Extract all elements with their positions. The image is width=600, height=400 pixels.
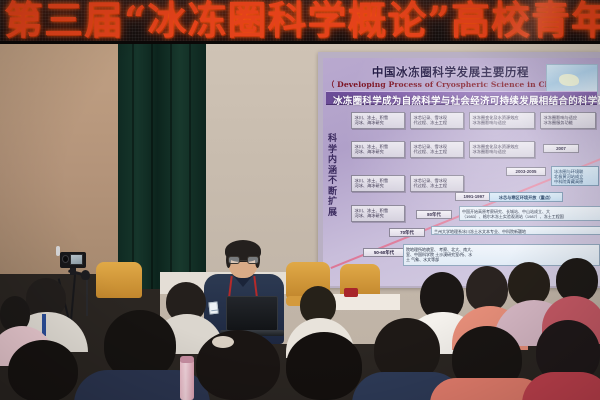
microphone-icon xyxy=(81,270,90,280)
mic-stand xyxy=(86,278,88,316)
banner-glare xyxy=(430,0,600,44)
slide-cell: 冰冻圈变化及水资源效应 冰冻圈影响与适应 xyxy=(469,112,535,129)
slide-side-note: 冰芯与寒区环境开放（重点） xyxy=(489,192,563,202)
slide-subtitle: （ Developing Process of Cryospheric Scie… xyxy=(323,79,578,90)
banner-bottom-edge xyxy=(0,41,600,44)
slide-year-chip: 50-60年代 xyxy=(363,248,405,257)
slide-year-chip: 70年代 xyxy=(389,228,425,237)
slide-year-chip: 2007 xyxy=(543,144,579,153)
camera-lens-icon xyxy=(62,255,69,263)
tripod-head xyxy=(70,268,76,275)
chair-back xyxy=(96,262,142,298)
camera-microphone-icon xyxy=(56,246,60,256)
bottle-cap xyxy=(180,356,194,363)
side-table xyxy=(330,294,400,310)
water-bottle xyxy=(180,358,194,400)
laptop-screen xyxy=(226,296,278,331)
slide-cell: 冰川、冻土、积雪 河冰、海冰研究 xyxy=(351,205,405,222)
slide-year-chip: 1991-1997 xyxy=(455,192,493,201)
slide-cell: 冰川、冻土、积雪 河冰、海冰研究 xyxy=(351,141,405,158)
slide-cell: 冰芯记录、雪冰现 代过程、冻土工程 xyxy=(410,112,464,129)
audience-head xyxy=(196,330,280,400)
tripod-leg xyxy=(70,275,76,321)
left-wall-panel xyxy=(0,44,128,274)
id-badge xyxy=(208,302,218,315)
hair-tie xyxy=(212,336,234,348)
slide-year-chip: 2003-2005 xyxy=(506,167,546,176)
slide-highlight-bar: 冰冻圈科学成为自然科学与社会经济可持续发展相结合的科学研究体 xyxy=(326,91,597,105)
presentation-slide: 中国冰冻圈科学发展主要历程 （ Developing Process of Cr… xyxy=(323,58,600,286)
slide-cell: 冰川、冻土、积雪 河冰、海冰研究 xyxy=(351,112,405,129)
stage-curtain xyxy=(118,44,206,289)
slide-title: 中国冰冻圈科学发展主要历程 xyxy=(323,64,578,80)
slide-map-thumbnail xyxy=(546,64,598,94)
slide-cell: 冰芯记录、雪冰现 代过程、冻土工程 xyxy=(410,175,464,192)
slide-cell: 冰芯记录、雪冰现 代过程、冻土工程 xyxy=(410,141,464,158)
audience-head xyxy=(8,340,78,400)
eyeglasses-icon xyxy=(228,256,259,264)
slide-cell: 冰冻圈影响与适应 冰冻圈服务功能 xyxy=(540,112,596,129)
slide-vertical-label: 科学内涵不断扩展 xyxy=(327,134,338,218)
slide-bottom-note: 中国开始高原考察研究、长城站、中山站成立、大 （1983）、格尔木冻土实验观测站… xyxy=(459,206,600,221)
red-object xyxy=(344,288,358,297)
lecture-hall-photo: 第三届“冰冻圈科学概论”高校青年教师培训班暨 中国冰冻圈科学发展主要历程 （ D… xyxy=(0,0,600,400)
slide-highlight-text: 冰冻圈科学成为自然科学与社会经济可持续发展相结合的科学研究体 xyxy=(333,93,600,107)
slide-cell: 冰冻圈变化及水资源效应 冰冻圈影响与适应 xyxy=(469,141,535,158)
audience-head xyxy=(286,332,362,400)
camcorder-lcd-screen xyxy=(70,254,83,265)
led-banner: 第三届“冰冻圈科学概论”高校青年教师培训班暨 xyxy=(0,0,600,44)
slide-year-chip: 80年代 xyxy=(416,210,452,219)
slide-cell: 冰川、冻土、积雪 河冰、海冰研究 xyxy=(351,175,405,192)
audience-shoulders xyxy=(522,372,600,400)
slide-side-note: 冰冻圈与环境联 北极黄河站成立 中科院青藏高原 xyxy=(551,166,599,186)
slide-bottom-note: 兰州大学地理系冰川冻土水文本专业、中科院新疆地 xyxy=(431,226,600,235)
